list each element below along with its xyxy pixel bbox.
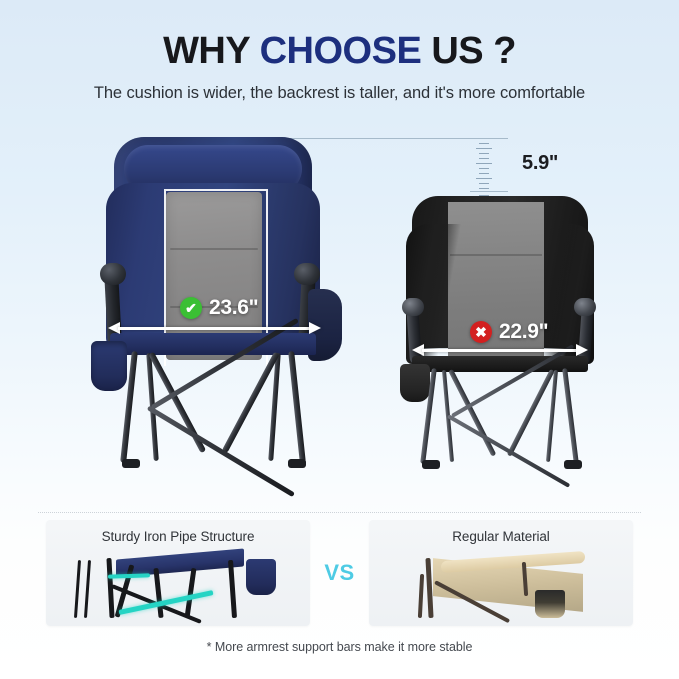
footnote-text: * More armrest support bars make it more… (0, 640, 679, 654)
promo-image-root: WHY CHOOSE US ? The cushion is wider, th… (0, 0, 679, 679)
height-difference-label: 5.9" (522, 152, 558, 175)
blue-chair-width-measurement: ✔ 23.6" (180, 296, 258, 320)
title-part-1: WHY (163, 30, 260, 72)
title-part-2: US ? (421, 30, 516, 72)
black-chair-cup-holder (400, 364, 430, 402)
left-card-title: Sturdy Iron Pipe Structure (46, 529, 310, 544)
black-chair-width-arrow (412, 344, 588, 356)
photo-tan-cup-holder (535, 590, 565, 618)
check-icon: ✔ (180, 297, 202, 319)
vs-label: VS (0, 560, 679, 586)
black-chair-armpad-right (574, 298, 596, 316)
blue-chair-armpad-right (294, 263, 320, 285)
black-chair-width-label: 22.9" (499, 320, 548, 344)
blue-chair-seat (110, 333, 316, 355)
section-divider (38, 512, 641, 513)
cross-icon: ✖ (470, 321, 492, 343)
height-ruler-icon (476, 143, 492, 193)
blue-chair-width-arrow (108, 322, 321, 334)
blue-chair-armpad-left (100, 263, 126, 285)
blue-chair-cup-holder (91, 341, 127, 391)
right-card-title: Regular Material (369, 529, 633, 544)
title-highlight: CHOOSE (260, 30, 422, 72)
blue-chair-width-label: 23.6" (209, 296, 258, 320)
black-chair-width-measurement: ✖ 22.9" (470, 320, 548, 344)
page-title: WHY CHOOSE US ? (0, 30, 679, 73)
page-subtitle: The cushion is wider, the backrest is ta… (0, 84, 679, 103)
black-chair-armpad-left (402, 298, 424, 316)
